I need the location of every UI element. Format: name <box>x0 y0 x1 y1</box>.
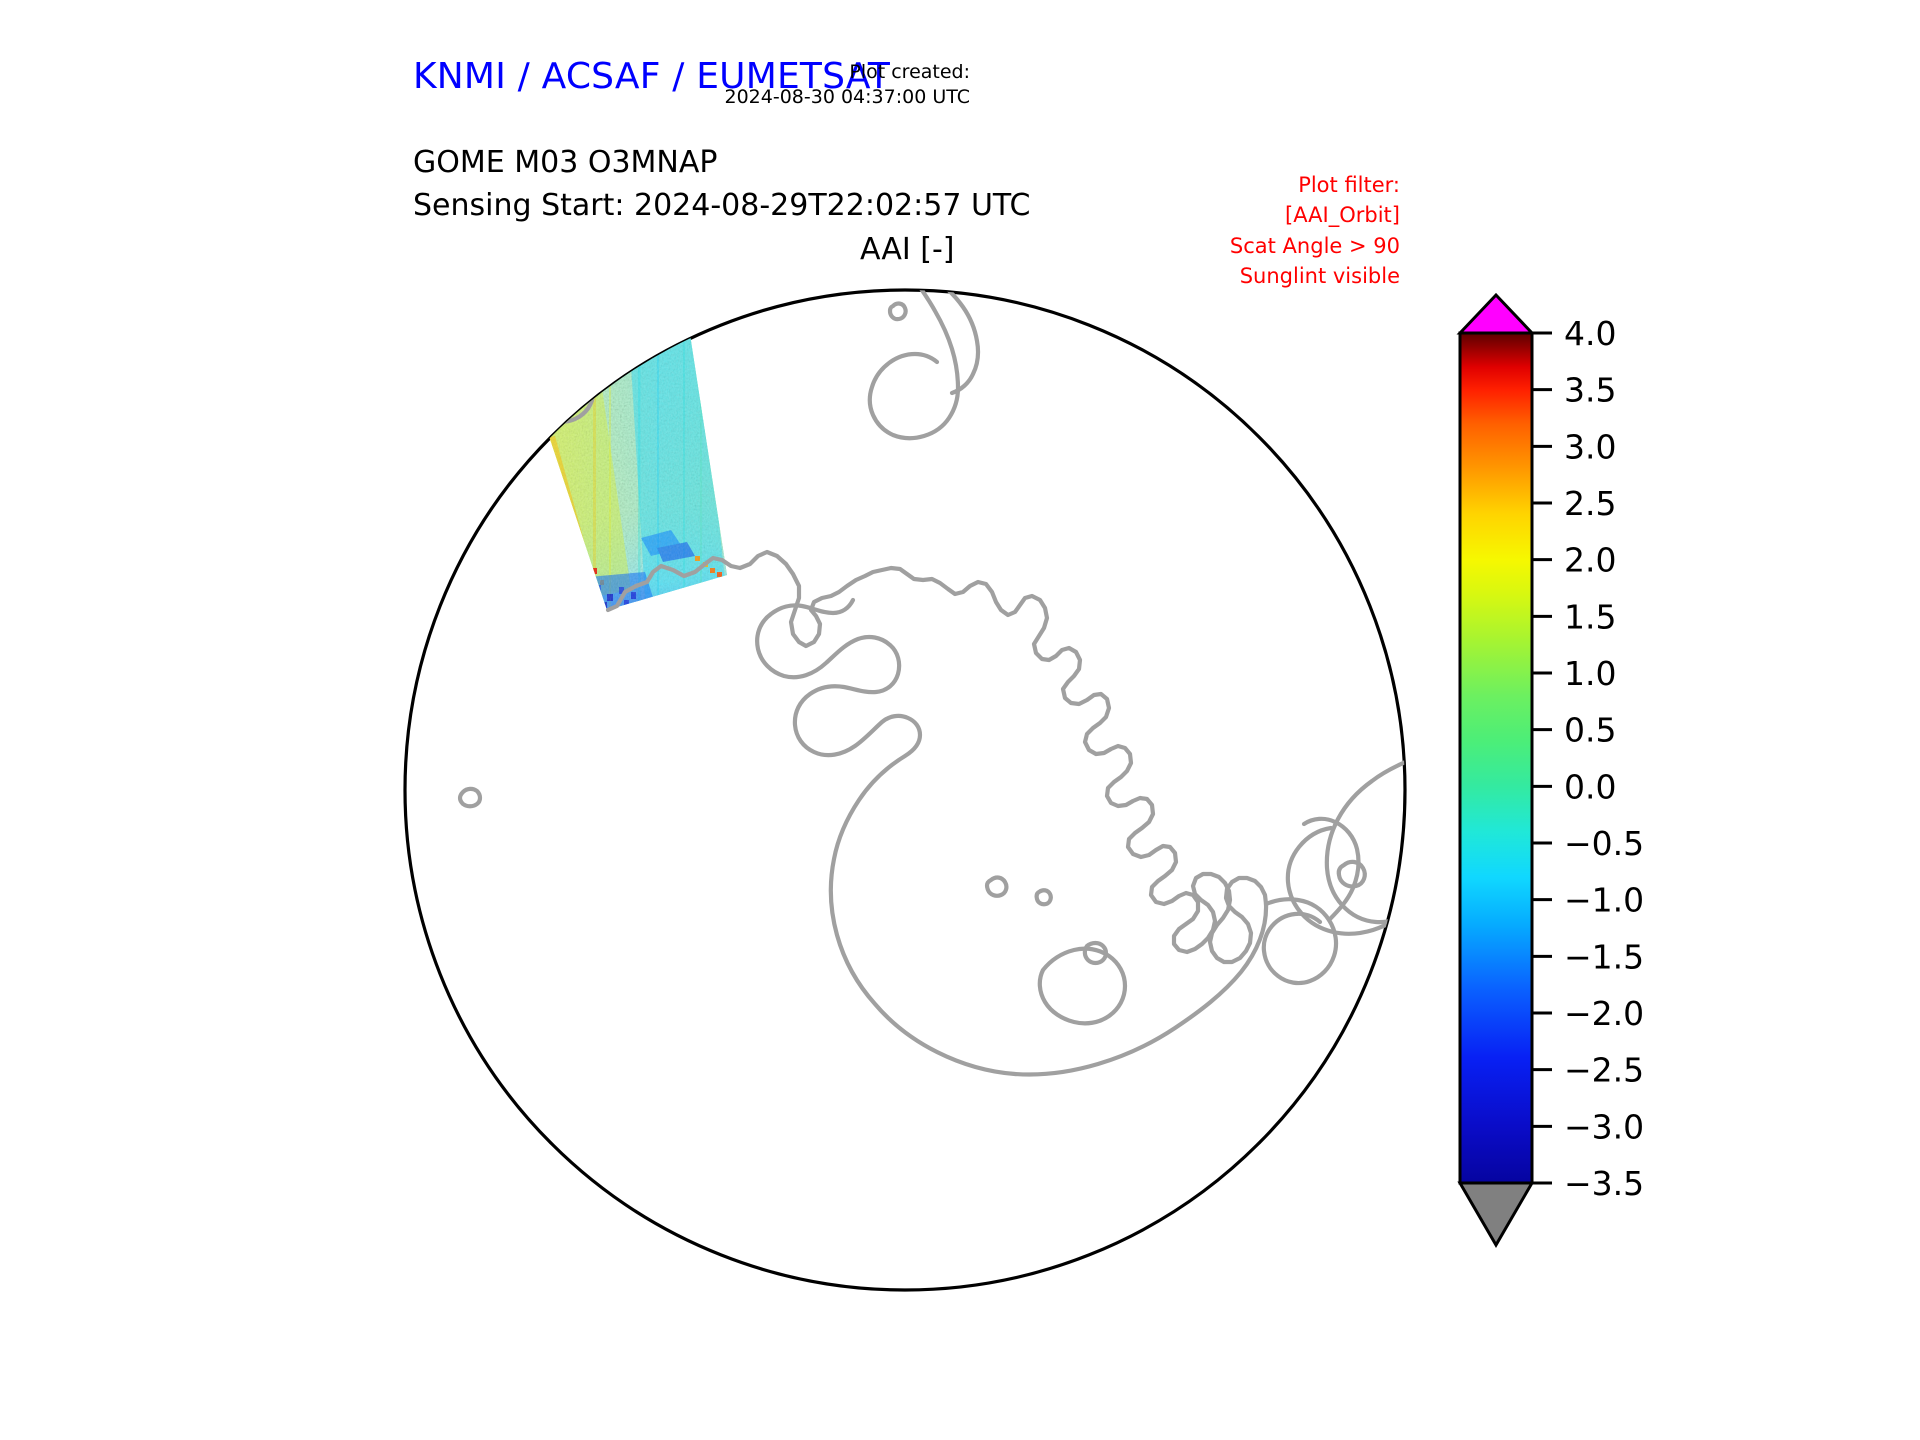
plot-created-label: Plot created: <box>725 60 971 85</box>
colorbar-tick-label: 3.0 <box>1564 427 1616 466</box>
plot-filter-scat-angle: Scat Angle > 90 <box>1230 231 1400 261</box>
colorbar-tick-label: −2.0 <box>1564 994 1644 1033</box>
colorbar-tick-label: 0.5 <box>1564 711 1616 750</box>
plot-title-block: GOME M03 O3MNAP Sensing Start: 2024-08-2… <box>413 142 1030 227</box>
colorbar-tick-label: 0.0 <box>1564 767 1616 806</box>
colorbar-under-arrow <box>1460 1183 1532 1245</box>
upper-left-coast-fragment <box>453 359 557 388</box>
colorbar-tick-label: −3.0 <box>1564 1107 1644 1146</box>
plot-filter-label: Plot filter: <box>1230 170 1400 200</box>
colorbar-tick-label: −1.0 <box>1564 881 1644 920</box>
product-subtitle: AAI [-] <box>860 232 955 267</box>
colorbar-over-arrow <box>1460 295 1532 333</box>
colorbar-panel: 4.03.53.02.52.01.51.00.50.0−0.5−1.0−1.5−… <box>1448 285 1748 1305</box>
plot-filter-block: Plot filter: [AAI_Orbit] Scat Angle > 90… <box>1230 170 1400 292</box>
map-panel <box>395 280 1415 1300</box>
colorbar-tick-label: −2.5 <box>1564 1051 1644 1090</box>
colorbar-tick-label: 2.5 <box>1564 484 1616 523</box>
map-svg <box>395 280 1415 1300</box>
plot-created-block: Plot created: 2024-08-30 04:37:00 UTC <box>725 60 971 110</box>
colorbar-tick-label: −0.5 <box>1564 824 1644 863</box>
colorbar-gradient <box>1460 333 1532 1183</box>
plot-canvas: KNMI / ACSAF / EUMETSAT Plot created: 20… <box>0 0 1920 1440</box>
colorbar-tick-label: 1.5 <box>1564 597 1616 636</box>
colorbar-svg: 4.03.53.02.52.01.51.00.50.0−0.5−1.0−1.5−… <box>1448 285 1748 1305</box>
plot-filter-name: [AAI_Orbit] <box>1230 200 1400 230</box>
colorbar-ticks: 4.03.53.02.52.01.51.00.50.0−0.5−1.0−1.5−… <box>1532 314 1644 1203</box>
colorbar-tick-label: 4.0 <box>1564 314 1616 353</box>
instrument-title: GOME M03 O3MNAP <box>413 142 1030 185</box>
sensing-start-title: Sensing Start: 2024-08-29T22:02:57 UTC <box>413 185 1030 228</box>
colorbar-tick-label: 2.0 <box>1564 541 1616 580</box>
colorbar-tick-label: 3.5 <box>1564 371 1616 410</box>
colorbar-tick-label: −1.5 <box>1564 937 1644 976</box>
swath-island <box>530 362 593 422</box>
colorbar-tick-label: 1.0 <box>1564 654 1616 693</box>
plot-created-timestamp: 2024-08-30 04:37:00 UTC <box>725 85 971 110</box>
colorbar-tick-label: −3.5 <box>1564 1164 1644 1203</box>
